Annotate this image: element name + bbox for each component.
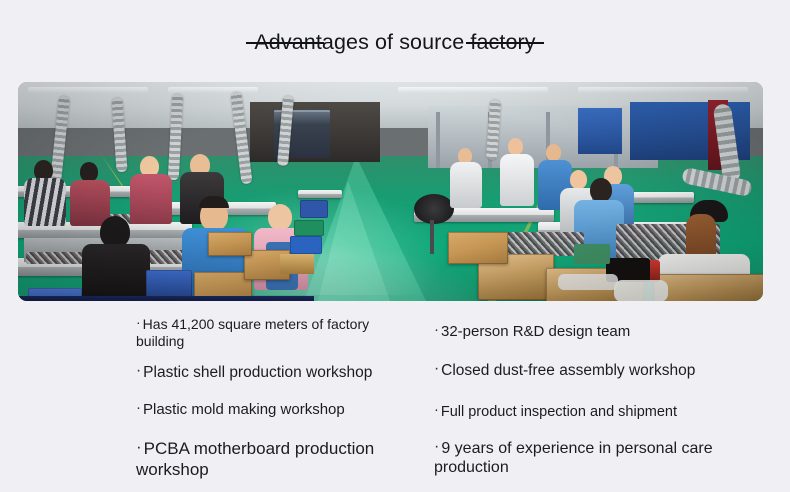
cardboard-box [280,254,314,274]
cardboard-box [448,232,508,264]
feature-item: ·Closed dust-free assembly workshop [434,360,734,381]
parts-bin [290,236,322,254]
bullet-dot: · [434,360,439,379]
feature-text: Full product inspection and shipment [441,404,677,420]
title-wrap: Advantages of source factory [248,27,541,57]
features-right-column: ·32-person R&D design team ·Closed dust-… [434,310,734,482]
green-tray [574,244,610,264]
feature-text: PCBA motherboard production workshop [136,439,374,479]
feature-item: ·PCBA motherboard production workshop [136,437,406,480]
ceiling-light-strip [28,87,148,93]
feature-item: ·Has 41,200 square meters of factory bui… [136,314,406,350]
feature-text: 9 years of experience in personal care p… [434,440,713,477]
assembly-parts [498,232,584,256]
feature-text: 32-person R&D design team [441,323,630,340]
bullet-dot: · [136,362,141,381]
bullet-dot: · [136,314,141,331]
bench-base-shadow [18,296,314,301]
fan-stand [430,220,434,254]
ceiling-light-strip [168,87,258,93]
parts-bin [294,220,324,236]
bullet-dot: · [434,402,439,420]
bench-fan [414,194,454,224]
bullet-dot: · [434,437,439,457]
factory-production-floor-photo [18,82,763,301]
plastic-bag [558,274,618,290]
work-bench [298,190,342,198]
bullet-dot: · [434,321,439,339]
blue-machine-frame [578,108,622,154]
cardboard-box [208,232,252,256]
ceiling-light-strip [578,87,748,93]
rack-post [436,112,440,168]
advantages-feature-lists: ·Has 41,200 square meters of factory bui… [18,310,763,480]
feature-item: ·Plastic shell production workshop [136,362,406,383]
parts-bin [300,200,328,218]
ceiling-light-strip [398,87,548,93]
feature-item: ·32-person R&D design team [434,321,734,341]
feature-item: ·Plastic mold making workshop [136,399,406,419]
parts-bin [146,270,192,298]
feature-item: ·Full product inspection and shipment [434,402,734,422]
title-rule-right-decoration [466,42,544,44]
feature-text: Closed dust-free assembly workshop [441,362,695,379]
feature-item: ·9 years of experience in personal care … [434,437,734,478]
feature-text: Plastic shell production workshop [143,364,372,381]
plastic-bag [614,280,668,301]
page-title-block: Advantages of source factory [0,22,790,62]
bullet-dot: · [136,399,141,417]
bullet-dot: · [136,437,142,458]
features-left-column: ·Has 41,200 square meters of factory bui… [136,310,406,485]
cardboard-box [654,274,763,301]
feature-text: Has 41,200 square meters of factory buil… [136,316,369,349]
photo-scene [18,82,763,301]
title-rule-left-decoration [246,42,324,44]
feature-text: Plastic mold making workshop [143,401,345,418]
